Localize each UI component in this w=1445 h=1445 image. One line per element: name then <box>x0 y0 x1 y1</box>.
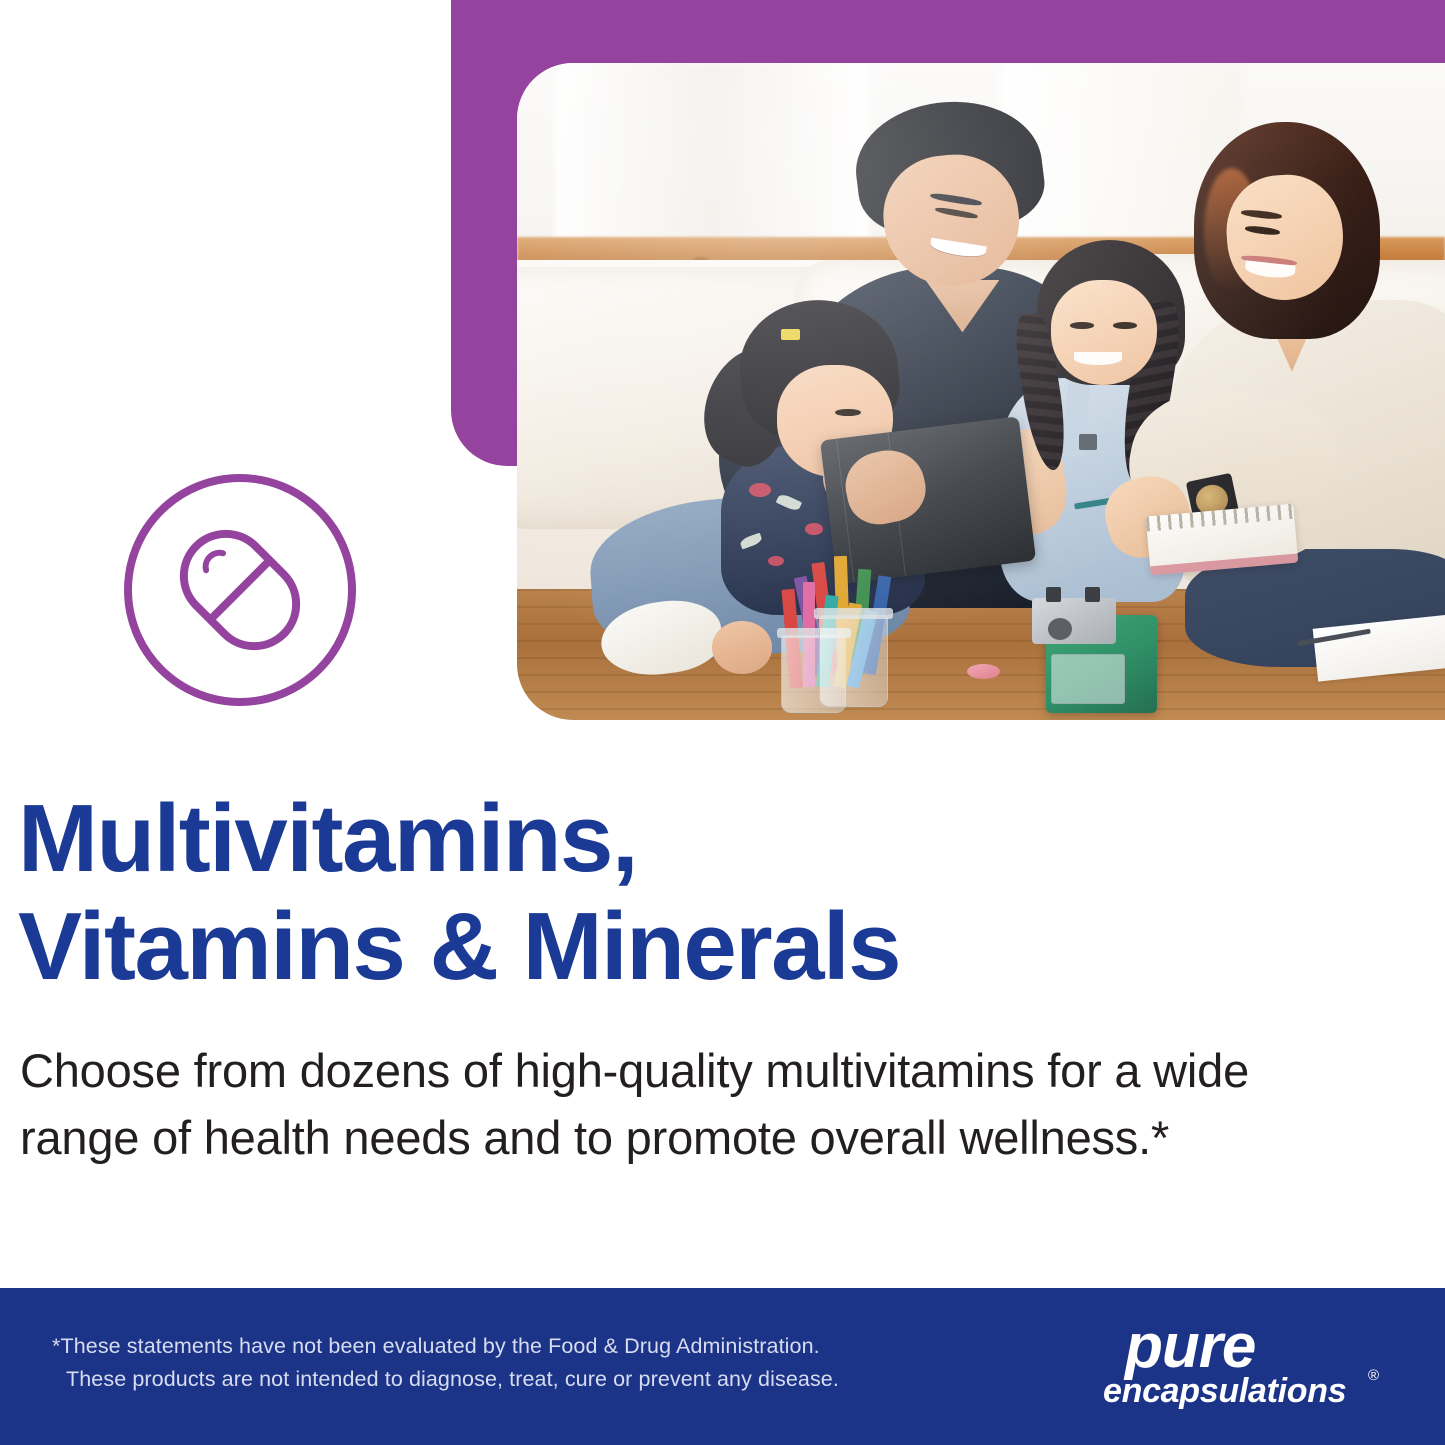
photo-hair-tie <box>781 329 800 340</box>
logo-secondary-text: encapsulations <box>1103 1374 1346 1408</box>
photo-older-girl-face <box>1051 280 1158 385</box>
photo-sharpener-hole <box>1048 618 1072 640</box>
photo-sharpener-bin <box>1051 654 1125 703</box>
banner-canvas: Multivitamins, Vitamins & Minerals Choos… <box>0 0 1445 1445</box>
photo-father-toes <box>712 621 772 674</box>
photo-sharpener-knob <box>1046 587 1061 601</box>
headline-line-2: Vitamins & Minerals <box>18 893 900 1000</box>
photo-sharpener-knob <box>1085 587 1100 601</box>
headline-line-1: Multivitamins, <box>18 785 637 892</box>
disclaimer-line-1: *These statements have not been evaluate… <box>52 1334 820 1358</box>
legal-disclaimer: *These statements have not been evaluate… <box>52 1330 952 1397</box>
photo-sharpener-head <box>1032 598 1116 644</box>
photo-dress-flower <box>805 523 824 535</box>
photo-older-girl-eye <box>1070 322 1094 329</box>
photo-older-girl-buckle <box>1079 434 1097 450</box>
page-title: Multivitamins, Vitamins & Minerals <box>18 785 1318 1000</box>
photo-older-girl-eye <box>1113 322 1137 329</box>
capsule-icon <box>120 470 360 710</box>
page-subcopy: Choose from dozens of high-quality multi… <box>20 1038 1280 1171</box>
hero-photo <box>517 63 1445 720</box>
disclaimer-line-2: These products are not intended to diagn… <box>52 1363 952 1396</box>
brand-logo[interactable]: pure encapsulations ® <box>1103 1316 1383 1420</box>
family-photo-illustration <box>517 63 1445 720</box>
logo-primary-text: pure <box>1125 1316 1255 1378</box>
registered-trademark-icon: ® <box>1368 1368 1379 1383</box>
photo-pencil-jar <box>819 615 889 707</box>
footer-bar: *These statements have not been evaluate… <box>0 1288 1445 1445</box>
photo-jar-rim <box>814 608 893 619</box>
